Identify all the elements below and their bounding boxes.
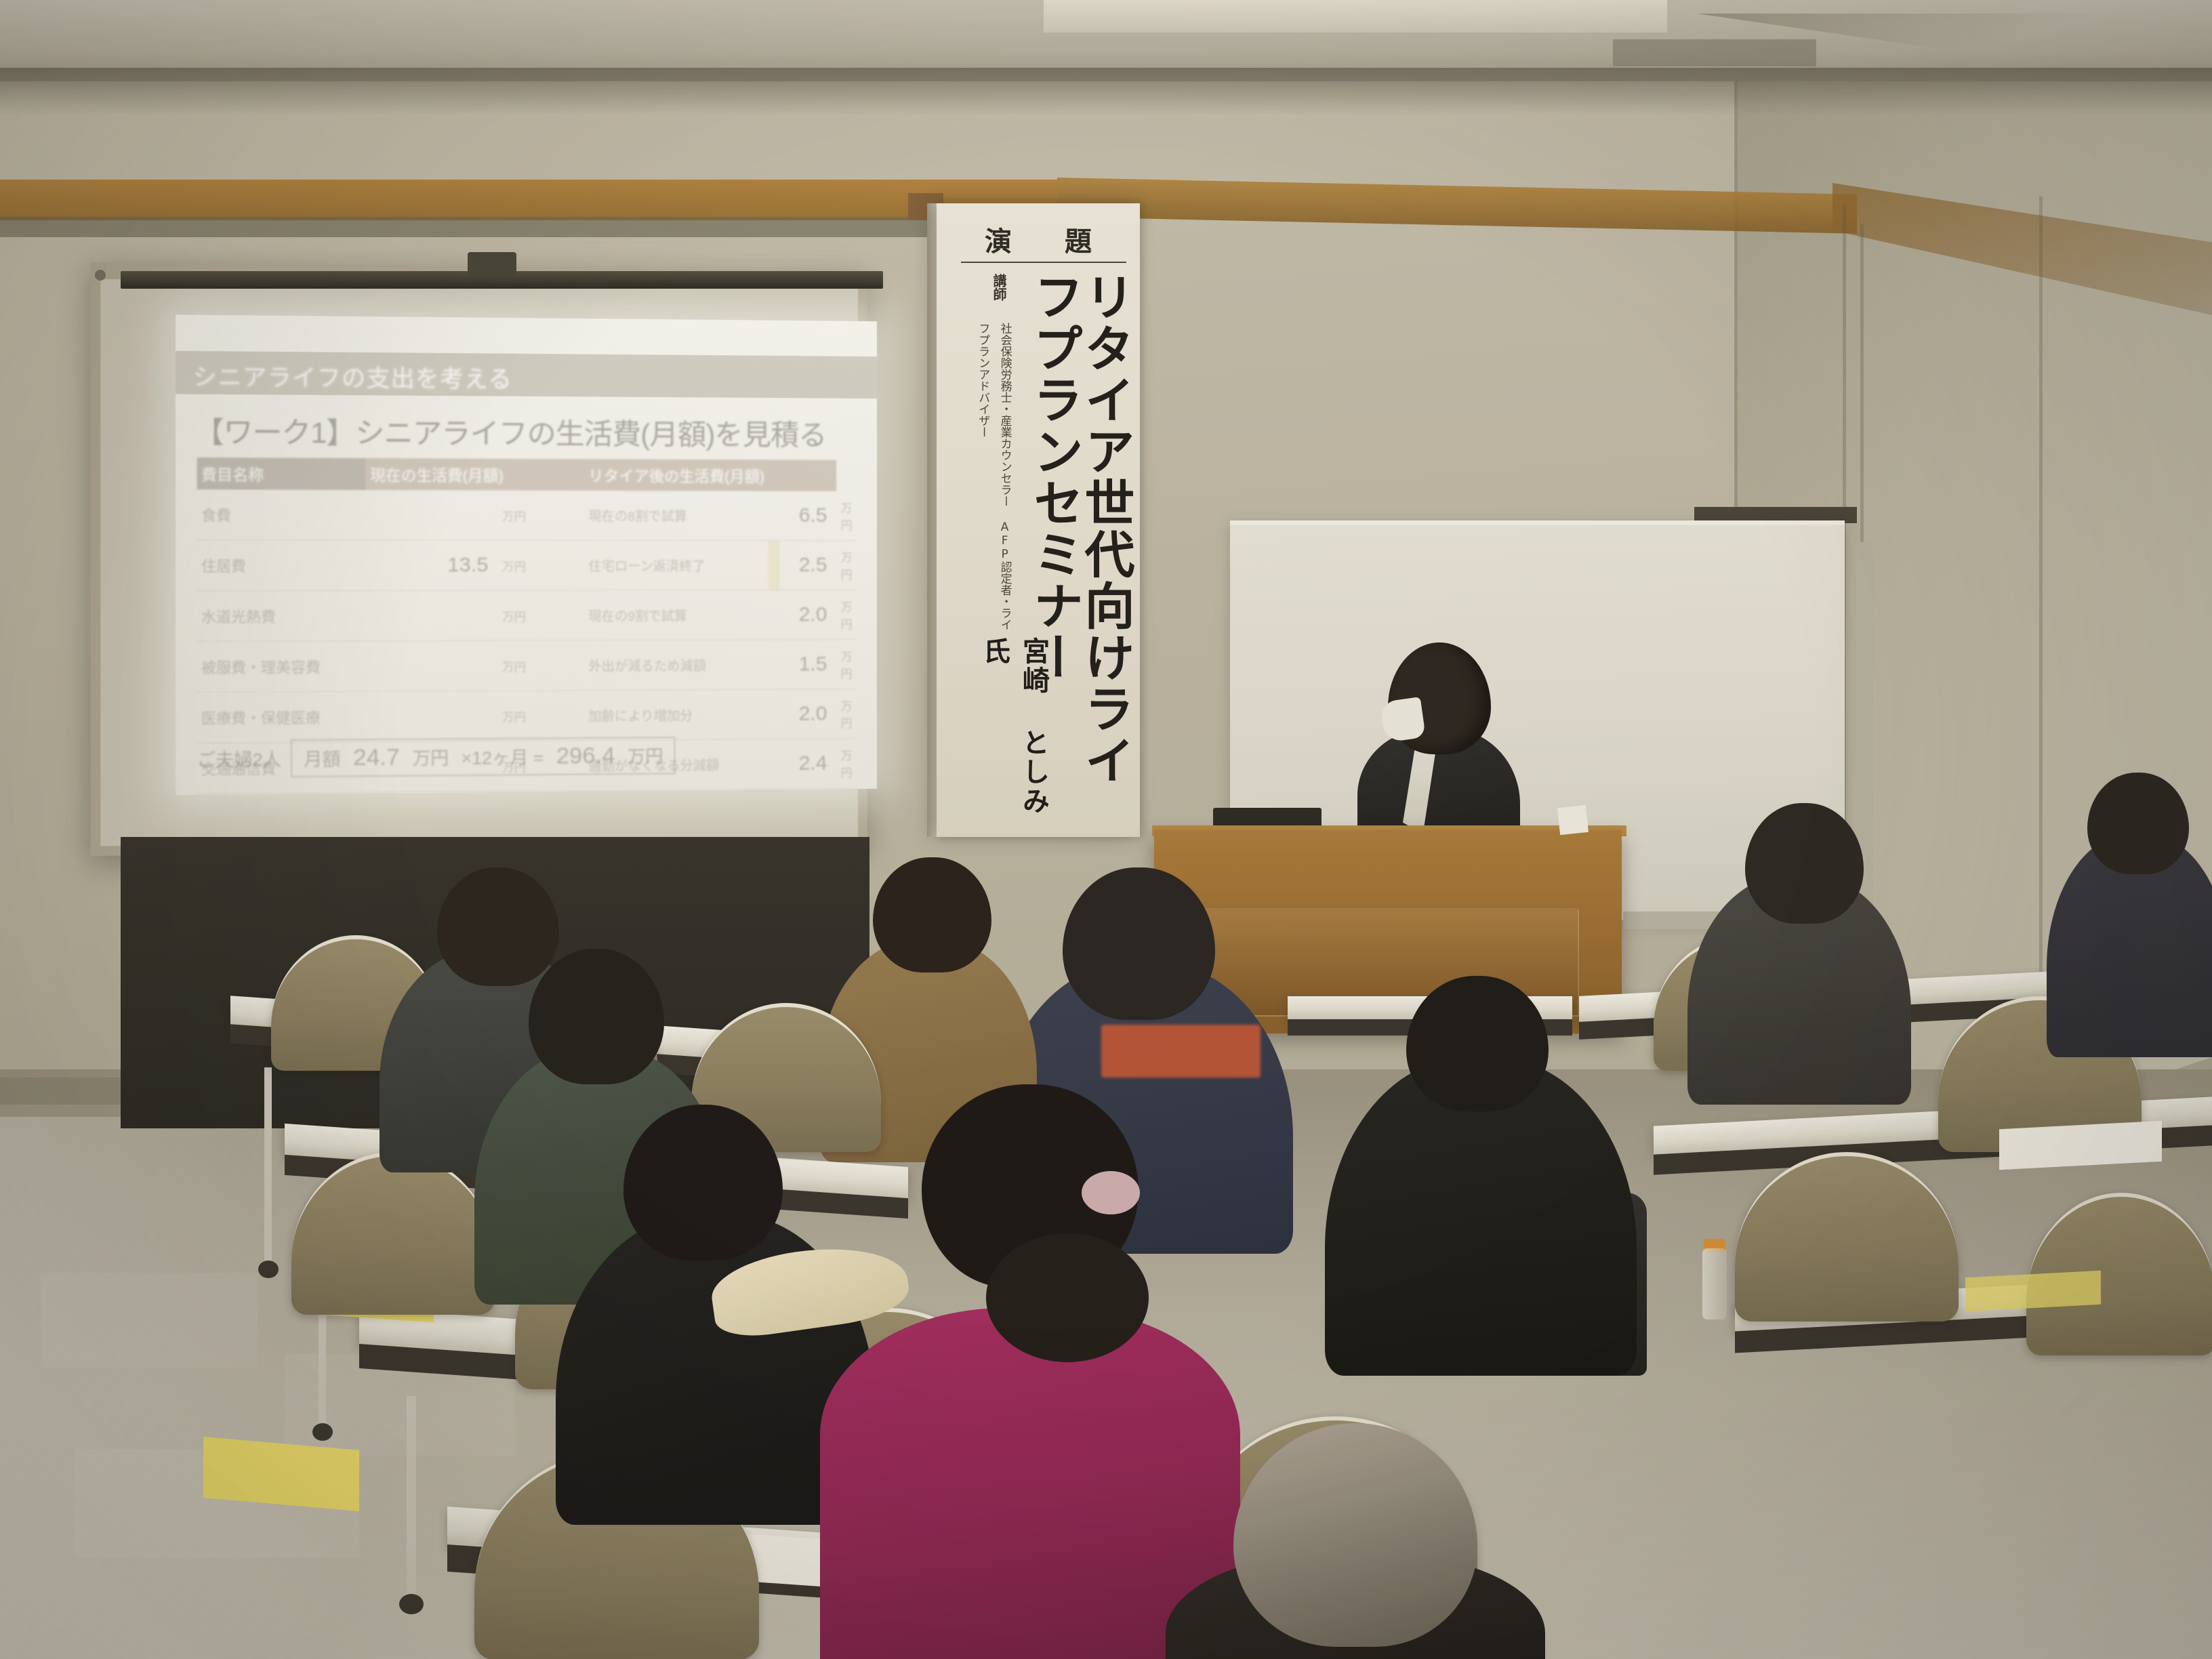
table-cell [366,590,498,641]
slide-title: 【ワーク1】シニアライフの生活費(月額)を見積る [194,409,867,454]
table-cell [366,640,498,691]
ceiling-shadow [0,68,2212,115]
hair-bun [986,1233,1149,1362]
ceiling-vent [1613,39,1816,66]
table-cell: 万円 [498,540,584,590]
table-cell: 2.0 [779,689,836,739]
total-monthly: 24.7 [353,744,400,771]
slide-header-text: シニアライフの支出を考える [192,358,750,396]
total-prefix: 月額 [304,745,340,771]
wall-seam-2 [2039,197,2043,1010]
table-cell: 万円 [498,790,584,795]
table-cell [366,490,498,540]
projection-screen-surface: シニアライフの支出を考える 【ワーク1】シニアライフの生活費(月額)を見積る 費… [100,279,858,846]
table-row: 住居費13.5万円住宅ローン返済終了2.5万円 [197,540,857,591]
desk-leg [264,1067,272,1264]
total-annual: 296.4 [556,743,615,770]
table-cell [769,689,779,739]
banner-speaker-label: 講師 [989,274,1009,301]
yellow-handout [1965,1271,2101,1311]
table-cell [769,590,779,640]
banner-header: 演 題 [937,220,1140,259]
projection-screen: シニアライフの支出を考える 【ワーク1】シニアライフの生活費(月額)を見積る 費… [90,262,867,856]
hoodie-print [1101,1025,1261,1078]
table-cell: 13.5 [366,540,498,590]
banner-speaker-name: 宮崎 としみ氏 [975,637,1053,837]
table-cell: 万円 [498,590,584,640]
table-cell: 食費 [197,489,366,540]
attendee-head [437,867,559,986]
table-cell: 万円 [498,491,584,541]
total-label: ご夫婦2人 [197,745,281,772]
desk-leg [407,1396,416,1599]
banner-header-char-1: 演 [985,220,1012,259]
col-current: 現在の生活費(月額) [366,458,584,491]
attendee-head [529,949,664,1084]
total-unit: 万円 [412,744,449,770]
podium-paper [1557,805,1589,835]
water-bottle [1702,1248,1727,1319]
table-cell: 1.5 [779,640,836,690]
wall-trim-band [0,180,1057,220]
desk-caster [399,1594,424,1614]
table-cell: 万円 [498,691,584,741]
table-cell: 万円 [836,788,856,796]
table-cell [769,789,779,796]
table-cell: 住居費 [197,540,366,591]
wall-trim-shadow [0,217,1057,237]
table-row: 医療費・保健医療万円加齢により増加分2.0万円 [197,689,857,743]
table-cell: 住宅ローン返済終了 [584,540,769,590]
desk-caster [258,1261,279,1278]
table-cell: 2.0 [779,590,836,640]
attendee-head [2087,773,2189,874]
handout-paper [1999,1121,2162,1170]
banner-divider [961,262,1126,263]
table-cell: 4.0 [779,788,836,795]
table-cell [769,640,779,689]
banner-credentials: 社会保険労務士・産業カウンセラー AFP認定者・ライフプランアドバイザー [972,323,1016,641]
table-cell: 2.5 [779,540,836,590]
attendee-head [873,857,991,972]
attendee-head [623,1105,783,1261]
banner-header-char-2: 題 [1065,220,1092,259]
table-cell [366,791,498,795]
table-cell: 万円 [836,689,856,739]
slide-total-row: ご夫婦2人 月額 24.7 万円 ×12ヶ月 = 296.4 万円 [197,735,861,778]
screen-mount-bracket [468,252,516,275]
table-cell: 医療費・保健医療 [197,691,366,743]
ceiling-light-strip [1044,0,1667,33]
table-cell: 現在の9割で試算 [584,590,769,640]
attendee-head [1745,803,1864,924]
table-cell: 加齢により増加分 [584,689,769,740]
table-cell: 6.5 [779,491,836,541]
total-box: 月額 24.7 万円 ×12ヶ月 = 296.4 万円 [291,737,675,777]
table-row: 水道光熱費万円現在の9割で試算2.0万円 [197,590,857,642]
table-cell: 被服費・理美容費 [197,641,366,693]
attendee-head [1406,976,1549,1111]
table-cell: 水道光熱費 [197,590,366,641]
table-cell [366,691,498,741]
col-item: 費目名称 [197,457,366,490]
seminar-title-banner: 演 題 リタイア世代向けライフプランセミナー 講師 社会保険労務士・産業カウンセ… [937,203,1140,837]
table-row: 被服費・理美容費万円外出が減るため減額1.5万円 [197,640,857,693]
seminar-room-photo: シニアライフの支出を考える 【ワーク1】シニアライフの生活費(月額)を見積る 費… [0,0,2212,1659]
presentation-slide: シニアライフの支出を考える 【ワーク1】シニアライフの生活費(月額)を見積る 費… [176,314,877,795]
table-cell: 万円 [498,640,584,691]
table-cell: 万円 [836,590,856,640]
hair-clip [1082,1171,1140,1214]
floor-tile [41,1273,258,1368]
table-cell [769,491,779,541]
attendee-head [1063,867,1215,1020]
total-multiplier: ×12ヶ月 = [462,743,544,769]
table-cell: 万円 [836,640,856,689]
table-row: 食費万円現在の8割で試算6.5万円 [197,489,857,540]
desk-caster [312,1423,333,1441]
total-annual-unit: 万円 [628,743,663,769]
screen-wall-hook [95,270,106,281]
table-header-row: 費目名称 現在の生活費(月額) リタイア後の生活費(月額) [197,457,857,491]
table-cell [769,540,779,590]
table-cell: 外出が減るため減額 [584,640,769,691]
table-cell: 万円 [836,540,856,590]
table-cell: 趣味・旅行等を含む [584,789,769,795]
col-retired: リタイア後の生活費(月額) [584,459,836,491]
table-cell: 万円 [836,491,856,541]
table-cell: 現在の8割で試算 [584,491,769,541]
